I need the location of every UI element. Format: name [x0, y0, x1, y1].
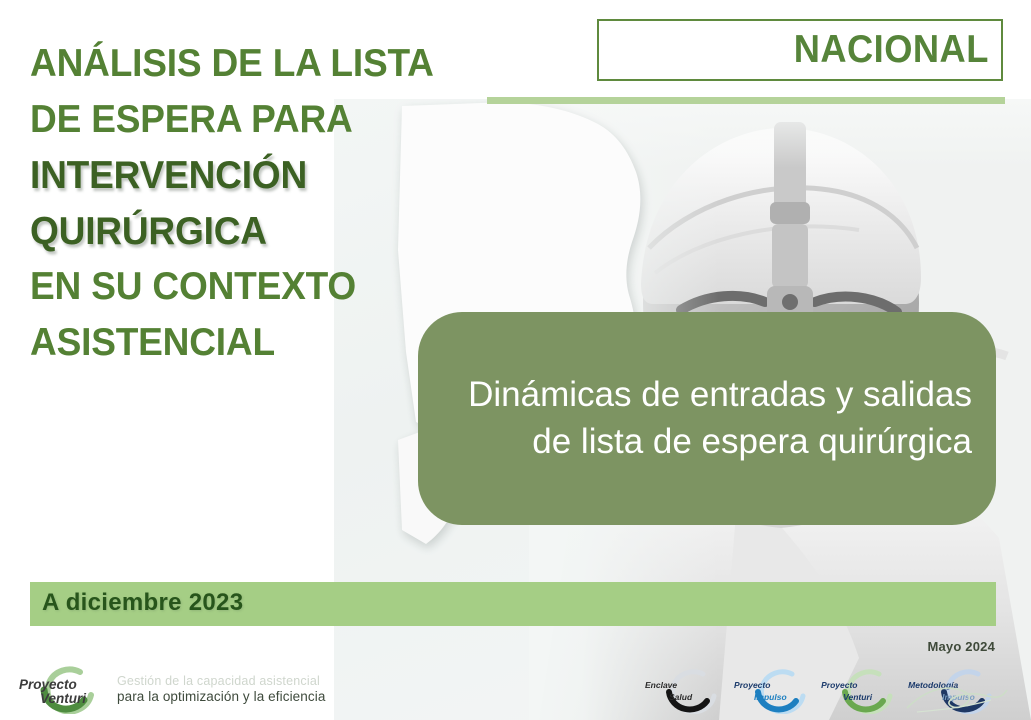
partner-word-top: Proyecto: [734, 680, 770, 690]
presentation-slide: NACIONAL ANÁLISIS DE LA LISTA DE ESPERA …: [0, 0, 1031, 720]
title-line-3: INTERVENCIÓN: [30, 156, 410, 195]
title-line-5: EN SU CONTEXTO: [30, 267, 410, 306]
partner-logo-enclave-salud: Enclave Salud: [645, 668, 730, 714]
scope-badge: NACIONAL: [597, 19, 1003, 81]
title-line-1: ANÁLISIS DE LA LISTA: [30, 44, 410, 83]
subtitle-text: Dinámicas de entradas y salidas de lista…: [458, 372, 972, 465]
partner-word-bottom: Venturi: [843, 692, 872, 702]
partner-wordmark-enclave-salud: Enclave Salud: [645, 668, 730, 714]
brand-wordmark: Proyecto Venturi: [18, 664, 110, 714]
partner-wordmark-proyecto-impulso: Proyecto Impulso: [734, 668, 817, 714]
brand-tagline-bottom: para la optimización y la eficiencia: [117, 689, 325, 704]
scope-badge-label: NACIONAL: [794, 28, 989, 72]
partner-word-top: Proyecto: [821, 680, 857, 690]
venturi-swoosh-icon: Proyecto Venturi: [18, 664, 110, 714]
brand-logo: Proyecto Venturi Gestión de la capacidad…: [18, 663, 318, 715]
partner-logo-proyecto-venturi: Proyecto Venturi: [821, 668, 904, 714]
brand-tagline: Gestión de la capacidad asistencial para…: [117, 674, 325, 704]
title-line-2: DE ESPERA PARA: [30, 100, 410, 139]
date-band-label: A diciembre 2023: [42, 589, 243, 617]
subtitle-callout: Dinámicas de entradas y salidas de lista…: [418, 312, 996, 525]
header-rule: [487, 97, 1005, 104]
partner-wordmark-proyecto-venturi: Proyecto Venturi: [821, 668, 904, 714]
partner-word-bottom: Impulso: [754, 692, 787, 702]
partner-word-top: Enclave: [645, 680, 677, 690]
partner-logo-proyecto-impulso: Proyecto Impulso: [734, 668, 817, 714]
partner-logo-row: Enclave Salud Proyecto Impulso Proyecto …: [645, 668, 1015, 718]
brand-word-bottom: Venturi: [40, 691, 86, 708]
publication-date: Mayo 2024: [927, 639, 995, 654]
page-title: ANÁLISIS DE LA LISTA DE ESPERA PARA INTE…: [30, 44, 430, 362]
title-line-6: ASISTENCIAL: [30, 323, 410, 362]
partner-word-bottom: Salud: [669, 692, 692, 702]
brand-tagline-top: Gestión de la capacidad asistencial: [117, 674, 325, 688]
title-line-4: QUIRÚRGICA: [30, 212, 410, 251]
signature-flourish-icon: [903, 682, 1013, 716]
